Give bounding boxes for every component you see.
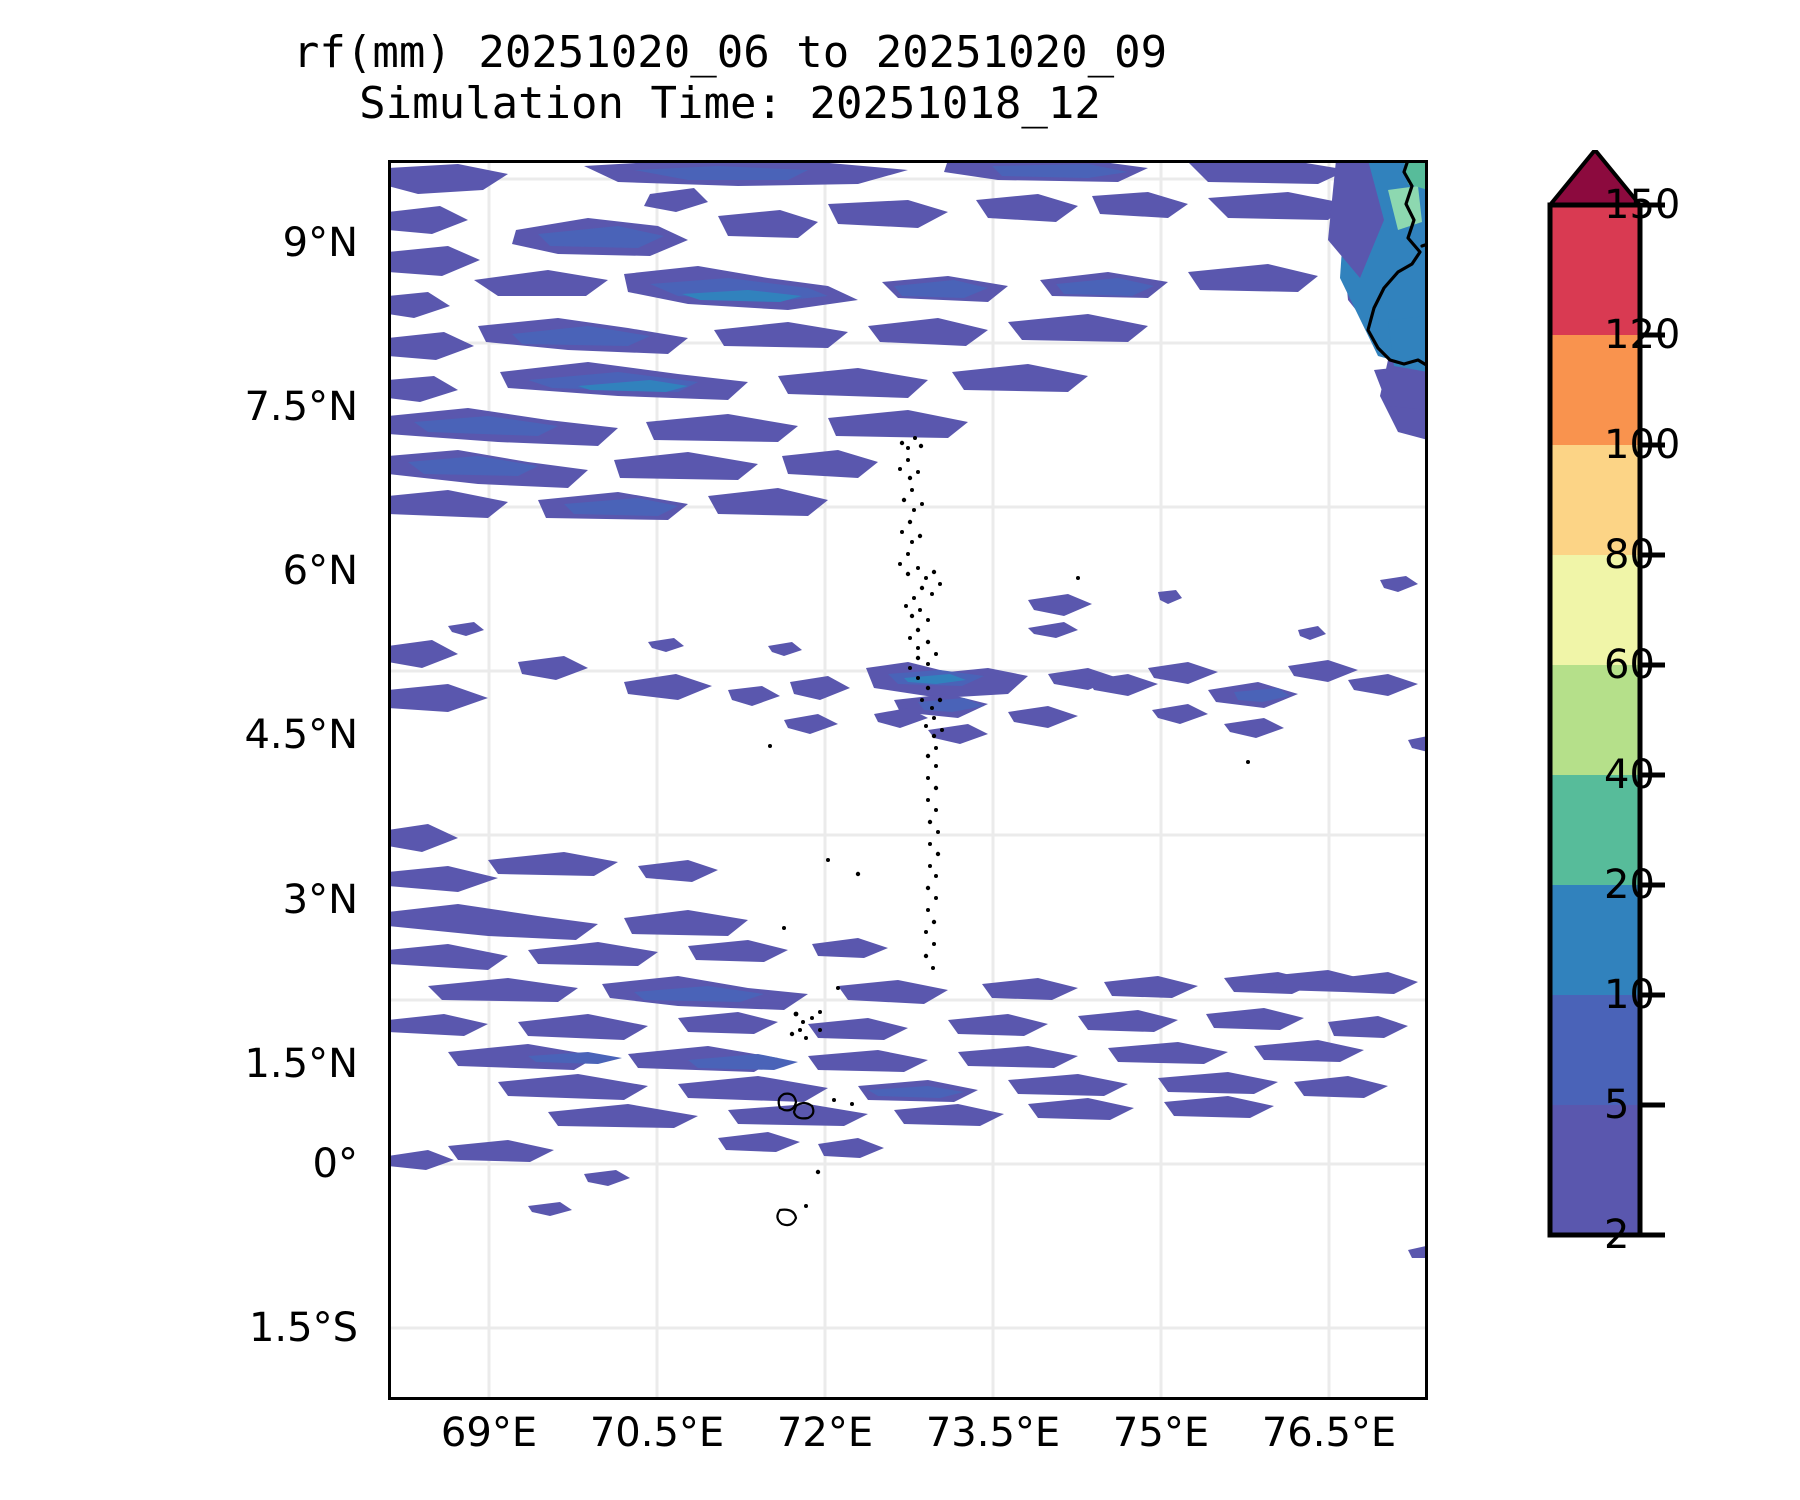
title-line-1: rf(mm) 20251020_06 to 20251020_09 <box>0 28 1460 79</box>
ytick-label-0: 0° <box>313 1141 358 1187</box>
ytick-label-6n: 6°N <box>283 548 358 594</box>
colorbar-label-20: 20 <box>1604 862 1655 908</box>
xtick-label-69e: 69°E <box>441 1410 537 1456</box>
figure-title: rf(mm) 20251020_06 to 20251020_09 Simula… <box>0 28 1460 129</box>
xtick-label-72e: 72°E <box>777 1410 873 1456</box>
title-line-2: Simulation Time: 20251018_12 <box>0 79 1460 130</box>
xtick-label-735e: 73.5°E <box>926 1410 1060 1456</box>
rainfall-forecast-figure: rf(mm) 20251020_06 to 20251020_09 Simula… <box>0 0 1800 1500</box>
ytick-label-45n: 4.5°N <box>244 712 358 758</box>
rainfall-contour-map <box>388 160 1428 1400</box>
colorbar-label-2: 2 <box>1604 1212 1629 1258</box>
colorbar-label-60: 60 <box>1604 642 1655 688</box>
colorbar: 150 120 100 80 60 40 20 10 5 2 <box>1500 150 1780 1280</box>
map-plot-area <box>388 160 1428 1400</box>
colorbar-label-40: 40 <box>1604 752 1655 798</box>
ytick-label-15s: 1.5°S <box>249 1305 358 1351</box>
colorbar-label-80: 80 <box>1604 532 1655 578</box>
ytick-label-3n: 3°N <box>283 877 358 923</box>
colorbar-label-150: 150 <box>1604 182 1680 228</box>
ytick-label-75n: 7.5°N <box>244 384 358 430</box>
ytick-label-9n: 9°N <box>283 220 358 266</box>
colorbar-label-120: 120 <box>1604 312 1680 358</box>
ytick-label-15n: 1.5°N <box>244 1041 358 1087</box>
colorbar-label-5: 5 <box>1604 1082 1629 1128</box>
colorbar-label-100: 100 <box>1604 422 1680 468</box>
colorbar-label-10: 10 <box>1604 972 1655 1018</box>
xtick-label-75e: 75°E <box>1113 1410 1209 1456</box>
xtick-label-765e: 76.5°E <box>1262 1410 1396 1456</box>
xtick-label-705e: 70.5°E <box>590 1410 724 1456</box>
